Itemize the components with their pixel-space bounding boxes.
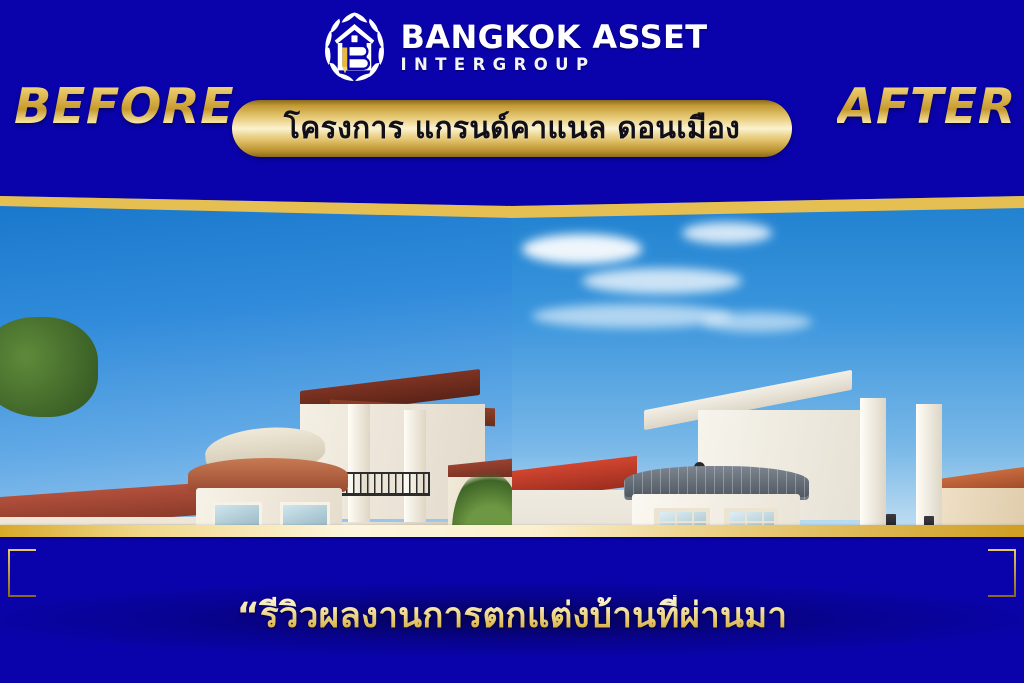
project-title-text: โครงการ แกรนด์คาแนล ดอนเมือง — [284, 114, 740, 144]
brand-logo-lockup[interactable]: BANGKOK ASSET INTERGROUP — [316, 8, 707, 84]
after-column — [860, 398, 886, 525]
after-bay-window — [654, 508, 710, 525]
before-column — [348, 404, 370, 525]
after-column — [916, 404, 942, 525]
before-after-comparison — [0, 172, 1024, 525]
brand-text-block: BANGKOK ASSET INTERGROUP — [400, 19, 707, 74]
before-label: BEFORE — [14, 78, 234, 135]
house-laurel-emblem-icon — [316, 8, 392, 84]
after-photo[interactable] — [512, 172, 1024, 525]
footer-caption: “รีวิวผลงานการตกแต่งบ้านที่ผ่านมา — [0, 595, 1024, 638]
after-label: AFTER — [837, 78, 1016, 135]
after-far-neighbour-wall — [942, 488, 1024, 525]
before-bay-window — [212, 502, 262, 525]
after-wall-lamp — [886, 514, 896, 525]
before-photo[interactable] — [0, 172, 512, 525]
after-wall-lamp — [924, 516, 934, 525]
header-bar: BANGKOK ASSET INTERGROUP BEFORE AFTER โค… — [0, 0, 1024, 172]
after-bay-window — [724, 508, 778, 525]
after-cloud — [522, 234, 642, 264]
after-cloud — [582, 268, 742, 294]
gold-divider-bar — [0, 525, 1024, 537]
project-title-banner: โครงการ แกรนด์คาแนล ดอนเมือง — [232, 100, 792, 157]
after-cloud — [682, 222, 772, 244]
after-cloud — [532, 304, 732, 328]
before-bay-window — [280, 502, 330, 525]
before-column — [404, 410, 426, 525]
before-hedge — [0, 317, 98, 417]
after-cloud — [702, 312, 812, 332]
before-after-promo-poster: BANGKOK ASSET INTERGROUP BEFORE AFTER โค… — [0, 0, 1024, 683]
brand-name-primary: BANGKOK ASSET — [400, 21, 707, 53]
footer-bar: “รีวิวผลงานการตกแต่งบ้านที่ผ่านมา — [0, 525, 1024, 683]
brand-name-secondary: INTERGROUP — [400, 57, 707, 74]
before-bay-roof — [188, 458, 348, 492]
